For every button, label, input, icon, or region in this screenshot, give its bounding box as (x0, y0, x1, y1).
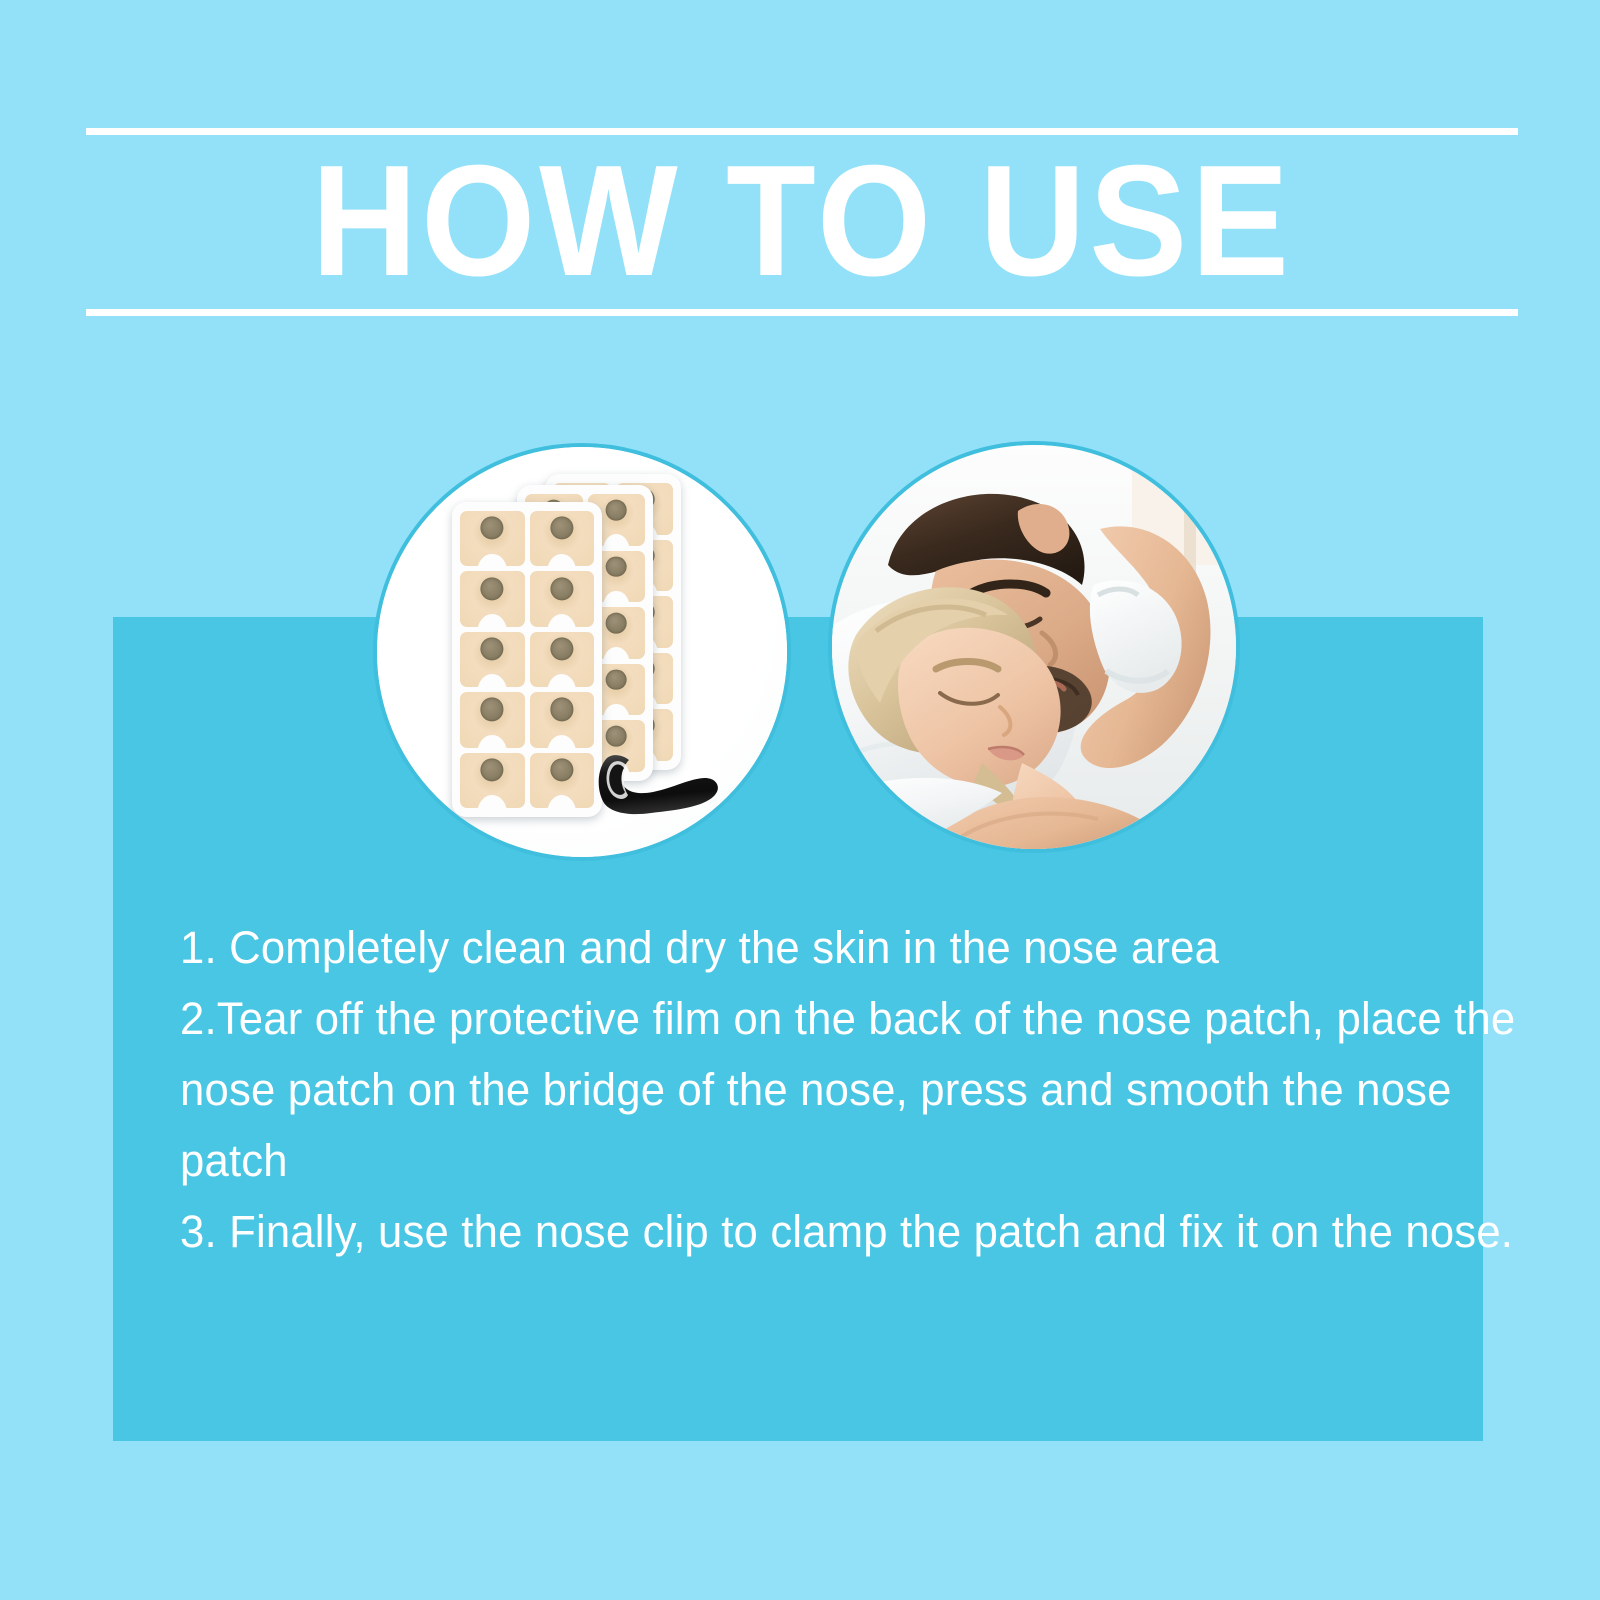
herb-core-icon (606, 500, 627, 521)
title-rule-bottom (86, 309, 1518, 316)
sleeping-couple-photo (832, 445, 1236, 849)
sleeping-couple-photo-circle (828, 441, 1240, 853)
nose-patch (530, 632, 595, 687)
step-line: nose patch on the bridge of the nose, pr… (180, 1054, 1441, 1125)
step-line: 2.Tear off the protective film on the ba… (180, 983, 1441, 1054)
herb-core-icon (550, 637, 573, 660)
page-header: HOW TO USE (86, 128, 1518, 316)
herb-core-icon (606, 556, 627, 577)
herb-core-icon (481, 698, 504, 721)
herb-core-icon (481, 577, 504, 600)
herb-core-icon (550, 698, 573, 721)
herb-core-icon (550, 517, 573, 540)
herb-core-icon (606, 669, 627, 690)
herb-core-icon (481, 758, 504, 781)
patch-sheet-front (452, 502, 602, 817)
nose-patch (460, 692, 525, 747)
nose-patch (530, 511, 595, 566)
step-line: 1. Completely clean and dry the skin in … (180, 912, 1441, 983)
herb-core-icon (550, 577, 573, 600)
product-photo (377, 447, 787, 857)
herb-core-icon (550, 758, 573, 781)
nose-patch (530, 753, 595, 808)
nose-patch (460, 571, 525, 626)
nose-patch (460, 632, 525, 687)
nose-patch (460, 511, 525, 566)
how-to-use-page: HOW TO USE (0, 0, 1600, 1600)
nose-patch (530, 571, 595, 626)
nose-patch (530, 692, 595, 747)
steps-list: 1. Completely clean and dry the skin in … (180, 912, 1480, 1267)
herb-core-icon (481, 517, 504, 540)
page-title: HOW TO USE (136, 136, 1468, 306)
nose-patch (460, 753, 525, 808)
herb-core-icon (481, 637, 504, 660)
nose-clip-icon (595, 750, 720, 816)
herb-core-icon (606, 613, 627, 634)
step-line: patch (180, 1125, 1441, 1196)
step-line: 3. Finally, use the nose clip to clamp t… (180, 1196, 1441, 1267)
product-photo-circle (373, 443, 791, 861)
herb-core-icon (606, 726, 627, 747)
